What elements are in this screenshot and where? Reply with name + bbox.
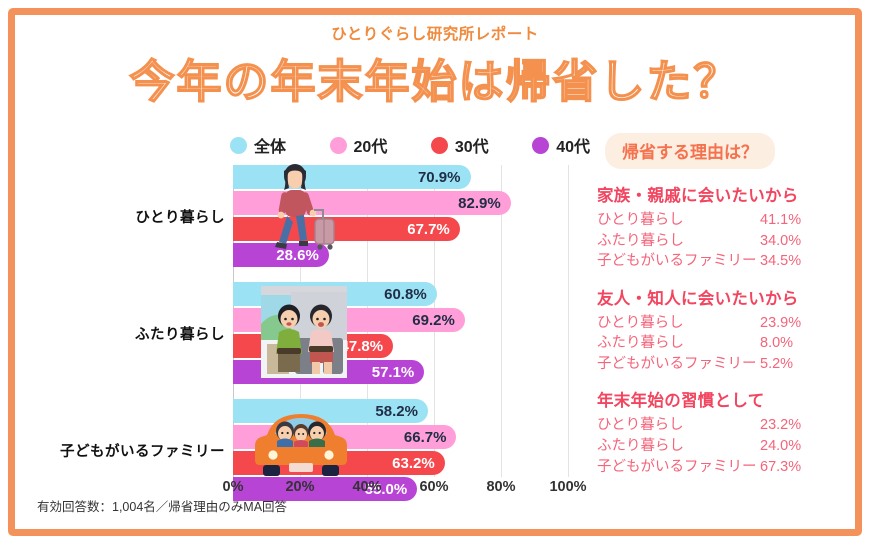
bar-全体: 70.9% xyxy=(233,165,471,189)
x-tick-60: 60% xyxy=(419,479,448,495)
bar-20代: 82.9% xyxy=(233,191,511,215)
reason-row-name: ふたり暮らし xyxy=(597,436,760,457)
legend-label-20s: 20代 xyxy=(354,133,388,157)
reason-row: ふたり暮らし8.0% xyxy=(597,333,862,354)
report-frame: ひとりぐらし研究所レポート 今年の年末年始は帰省した？ 全体 20代 30代 4… xyxy=(8,8,862,536)
legend-swatch-20s xyxy=(330,137,347,154)
reason-row-name: ひとり暮らし xyxy=(597,415,760,436)
reason-row: ふたり暮らし24.0% xyxy=(597,436,862,457)
reasons-panel: 帰省する理由は？ 家族・親戚に会いたいからひとり暮らし41.1%ふたり暮らし34… xyxy=(597,133,862,477)
bar-value-label: 82.9% xyxy=(458,195,511,212)
chart-legend: 全体 20代 30代 40代 xyxy=(230,133,590,157)
bar-全体: 58.2% xyxy=(233,399,428,423)
bar-group: ふたり暮らし60.8%69.2%47.8%57.1% xyxy=(233,282,568,384)
bar-40代: 28.6% xyxy=(233,243,329,267)
reason-row-value: 5.2% xyxy=(760,354,793,375)
legend-item-all: 全体 xyxy=(230,133,286,157)
reason-row: ひとり暮らし41.1% xyxy=(597,210,862,231)
bar-value-label: 57.1% xyxy=(372,364,425,381)
reason-row-value: 23.2% xyxy=(760,415,801,436)
reason-row-value: 34.0% xyxy=(760,231,801,252)
legend-item-40s: 40代 xyxy=(532,133,590,157)
bar-20代: 69.2% xyxy=(233,308,465,332)
legend-item-20s: 20代 xyxy=(330,133,388,157)
footnote: 有効回答数：1,004名／帰省理由のみMA回答 xyxy=(37,496,287,515)
bar-value-label: 67.7% xyxy=(407,221,460,238)
bar-30代: 63.2% xyxy=(233,451,445,475)
bar-value-label: 47.8% xyxy=(341,338,394,355)
reason-row: ひとり暮らし23.2% xyxy=(597,415,862,436)
reason-row-name: 子どもがいるファミリー xyxy=(597,251,760,272)
report-subtitle: ひとりぐらし研究所レポート xyxy=(15,22,855,44)
bar-value-label: 28.6% xyxy=(276,247,329,264)
legend-swatch-30s xyxy=(431,137,448,154)
reason-row-value: 67.3% xyxy=(760,457,801,478)
reason-row-name: ふたり暮らし xyxy=(597,333,760,354)
legend-label-40s: 40代 xyxy=(556,133,590,157)
bar-value-label: 66.7% xyxy=(404,429,457,446)
reason-row-name: ひとり暮らし xyxy=(597,210,760,231)
bar-20代: 66.7% xyxy=(233,425,456,449)
legend-label-all: 全体 xyxy=(254,133,286,157)
reason-row-value: 24.0% xyxy=(760,436,801,457)
bar-value-label: 60.8% xyxy=(384,286,437,303)
reason-row: ふたり暮らし34.0% xyxy=(597,231,862,252)
reason-title: 年末年始の習慣として xyxy=(597,387,862,411)
x-tick-0: 0% xyxy=(223,479,244,495)
bar-30代: 47.8% xyxy=(233,334,393,358)
chart-plot-area: ひとり暮らし70.9%82.9%67.7%28.6% ふたり暮らし60.8%69… xyxy=(233,165,568,477)
legend-swatch-40s xyxy=(532,137,549,154)
reason-row-value: 8.0% xyxy=(760,333,793,354)
x-tick-80: 80% xyxy=(486,479,515,495)
legend-swatch-all xyxy=(230,137,247,154)
bar-全体: 60.8% xyxy=(233,282,437,306)
legend-label-30s: 30代 xyxy=(455,133,489,157)
reason-row: 子どもがいるファミリー5.2% xyxy=(597,354,862,375)
reason-row-value: 23.9% xyxy=(760,313,801,334)
x-tick-100: 100% xyxy=(549,479,586,495)
reasons-list: 家族・親戚に会いたいからひとり暮らし41.1%ふたり暮らし34.0%子どもがいる… xyxy=(597,182,862,477)
bar-value-label: 69.2% xyxy=(412,312,465,329)
bar-30代: 67.7% xyxy=(233,217,460,241)
bar-value-label: 70.9% xyxy=(418,169,471,186)
reason-row: ひとり暮らし23.9% xyxy=(597,313,862,334)
reason-row-value: 41.1% xyxy=(760,210,801,231)
legend-item-30s: 30代 xyxy=(431,133,489,157)
bar-chart: ひとり暮らし70.9%82.9%67.7%28.6% ふたり暮らし60.8%69… xyxy=(33,165,593,490)
x-tick-20: 20% xyxy=(285,479,314,495)
page-title: 今年の年末年始は帰省した？ xyxy=(15,45,855,110)
reason-row-name: 子どもがいるファミリー xyxy=(597,354,760,375)
reason-row: 子どもがいるファミリー34.5% xyxy=(597,251,862,272)
reason-row-name: 子どもがいるファミリー xyxy=(597,457,760,478)
category-label: ひとり暮らし xyxy=(135,206,225,227)
reason-row-value: 34.5% xyxy=(760,251,801,272)
reason-row: 子どもがいるファミリー67.3% xyxy=(597,457,862,478)
bar-group: ひとり暮らし70.9%82.9%67.7%28.6% xyxy=(233,165,568,267)
bar-40代: 57.1% xyxy=(233,360,424,384)
bar-value-label: 58.2% xyxy=(375,403,428,420)
reason-title: 家族・親戚に会いたいから xyxy=(597,182,862,206)
gridline-100 xyxy=(568,165,569,477)
x-tick-40: 40% xyxy=(352,479,381,495)
reason-block: 家族・親戚に会いたいからひとり暮らし41.1%ふたり暮らし34.0%子どもがいる… xyxy=(597,182,862,272)
category-label: ふたり暮らし xyxy=(135,323,225,344)
reason-block: 友人・知人に会いたいからひとり暮らし23.9%ふたり暮らし8.0%子どもがいるフ… xyxy=(597,285,862,375)
reason-row-name: ふたり暮らし xyxy=(597,231,760,252)
reason-block: 年末年始の習慣としてひとり暮らし23.2%ふたり暮らし24.0%子どもがいるファ… xyxy=(597,387,862,477)
reasons-heading: 帰省する理由は？ xyxy=(605,133,775,169)
reason-row-name: ひとり暮らし xyxy=(597,313,760,334)
category-label: 子どもがいるファミリー xyxy=(60,440,225,461)
reason-title: 友人・知人に会いたいから xyxy=(597,285,862,309)
bar-value-label: 63.2% xyxy=(392,455,445,472)
